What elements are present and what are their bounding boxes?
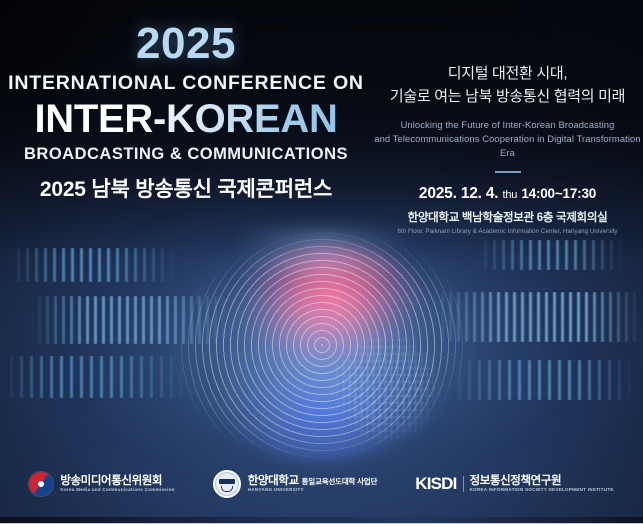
logo-kisdi-english: KOREA INFORMATION SOCIETY DEVELOPMENT IN…	[470, 488, 614, 493]
title-korean: 2025 남북 방송통신 국제콘퍼런스	[0, 179, 372, 200]
logo-kisdi: KISDI 정보통신정책연구원 KOREA INFORMATION SOCIET…	[415, 474, 613, 494]
theme-korean: 디지털 대전환 시대, 기술로 여는 남북 방송통신 협력의 미래	[372, 62, 643, 109]
logo-hanyang-sub: 통일교육선도대학 사업단	[302, 477, 378, 486]
venue-korean: 한양대학교 백남학술정보관 6층 국제회의실	[372, 209, 643, 225]
logo-kcc-english: Korea Media and Communications Commissio…	[60, 488, 174, 493]
event-date: 2025. 12. 4. thu 14:00~17:30	[372, 185, 643, 203]
taegeuk-circle-icon	[29, 472, 53, 496]
conference-poster: 2025 INTERNATIONAL CONFERENCE ON INTER-K…	[0, 0, 643, 524]
logo-hanyang-name: 한양대학교	[248, 475, 299, 487]
event-time: 14:00~17:30	[521, 186, 596, 201]
taegeuk-network-orb-graphic	[0, 210, 643, 480]
hanyang-seal-icon	[213, 470, 241, 498]
event-date-value: 2025. 12. 4.	[419, 185, 498, 202]
theme-korean-line2: 기술로 여는 남북 방송통신 협력의 미래	[372, 85, 643, 108]
logo-kcc: 방송미디어통신위원회 Korea Media and Communication…	[29, 472, 174, 496]
theme-english: Unlocking the Future of Inter-Korean Bro…	[372, 118, 643, 160]
kisdi-wordmark: KISDI	[415, 474, 456, 494]
logo-hanyang-english: HANYANG UNIVERSITY	[248, 488, 378, 493]
sponsor-logo-row: 방송미디어통신위원회 Korea Media and Communication…	[0, 470, 643, 498]
logo-kcc-text: 방송미디어통신위원회 Korea Media and Communication…	[60, 475, 174, 493]
bottom-edge-strip	[0, 517, 643, 524]
logo-hanyang-korean: 한양대학교통일교육선도대학 사업단	[248, 475, 378, 487]
logo-kisdi-text: 정보통신정책연구원 KOREA INFORMATION SOCIETY DEVE…	[470, 475, 614, 493]
title-line-conference: INTERNATIONAL CONFERENCE ON	[0, 74, 372, 94]
logo-hanyang: 한양대학교통일교육선도대학 사업단 HANYANG UNIVERSITY	[213, 470, 378, 498]
kisdi-divider	[463, 476, 464, 492]
event-day-of-week: thu	[503, 189, 518, 201]
info-block: 디지털 대전환 시대, 기술로 여는 남북 방송통신 협력의 미래 Unlock…	[372, 62, 643, 235]
title-main-inter-korean: INTER-KOREAN	[0, 99, 372, 139]
theme-english-line1: Unlocking the Future of Inter-Korean Bro…	[372, 118, 643, 132]
logo-kcc-korean: 방송미디어통신위원회	[60, 475, 174, 487]
section-divider	[495, 171, 521, 173]
title-block: 2025 INTERNATIONAL CONFERENCE ON INTER-K…	[0, 22, 372, 200]
logo-hanyang-text: 한양대학교통일교육선도대학 사업단 HANYANG UNIVERSITY	[248, 475, 378, 493]
venue-english: 6th Floor, Paiknam Library & Academic In…	[372, 228, 643, 235]
poster-year: 2025	[0, 22, 372, 66]
theme-english-line2: and Telecommunications Cooperation in Di…	[372, 132, 643, 160]
logo-kisdi-korean: 정보통신정책연구원	[470, 475, 614, 487]
theme-korean-line1: 디지털 대전환 시대,	[372, 62, 643, 85]
title-line-broadcasting: BROADCASTING & COMMUNICATIONS	[0, 146, 372, 163]
